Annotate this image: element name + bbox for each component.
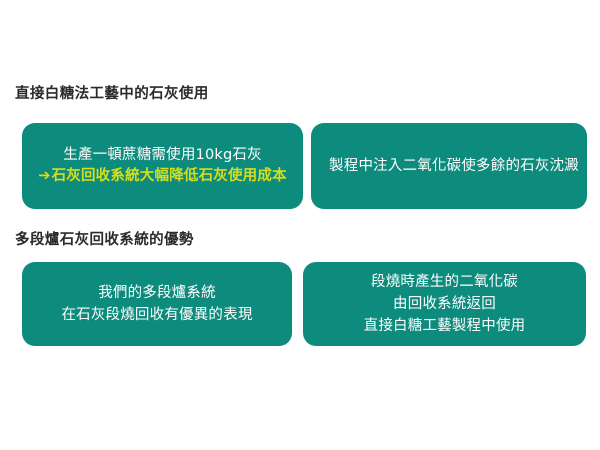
- card-co2-inject: 製程中注入二氧化碳使多餘的石灰沈澱: [311, 123, 587, 209]
- section-heading-lime-usage: 直接白糖法工藝中的石灰使用: [15, 87, 209, 102]
- card-furnace-advantage-line-1: 我們的多段爐系統: [98, 282, 216, 304]
- card-co2-return-line-2: 由回收系統返回: [393, 293, 496, 315]
- card-co2-return-line-1: 段燒時產生的二氧化碳: [371, 271, 518, 293]
- card-lime-usage-line-1: 生產一頓蔗糖需使用10kg石灰: [63, 145, 262, 166]
- card-co2-return-line-3: 直接白糖工藝製程中使用: [364, 315, 526, 337]
- card-co2-return: 段燒時產生的二氧化碳 由回收系統返回 直接白糖工藝製程中使用: [303, 262, 586, 346]
- card-lime-usage-line-2-text: 石灰回收系統大幅降低石灰使用成本: [52, 168, 287, 184]
- arrow-right-icon: ➔: [38, 168, 50, 184]
- card-lime-usage: 生產一頓蔗糖需使用10kg石灰 ➔石灰回收系統大幅降低石灰使用成本: [22, 123, 303, 209]
- card-co2-inject-line-1: 製程中注入二氧化碳使多餘的石灰沈澱: [329, 156, 579, 177]
- card-furnace-advantage: 我們的多段爐系統 在石灰段燒回收有優異的表現: [22, 262, 292, 346]
- section-heading-furnace-advantage: 多段爐石灰回收系統的優勢: [15, 233, 194, 248]
- slide-canvas: 直接白糖法工藝中的石灰使用 生產一頓蔗糖需使用10kg石灰 ➔石灰回收系統大幅降…: [0, 0, 600, 450]
- card-lime-usage-line-2: ➔石灰回收系統大幅降低石灰使用成本: [38, 166, 287, 187]
- card-furnace-advantage-line-2: 在石灰段燒回收有優異的表現: [61, 304, 252, 326]
